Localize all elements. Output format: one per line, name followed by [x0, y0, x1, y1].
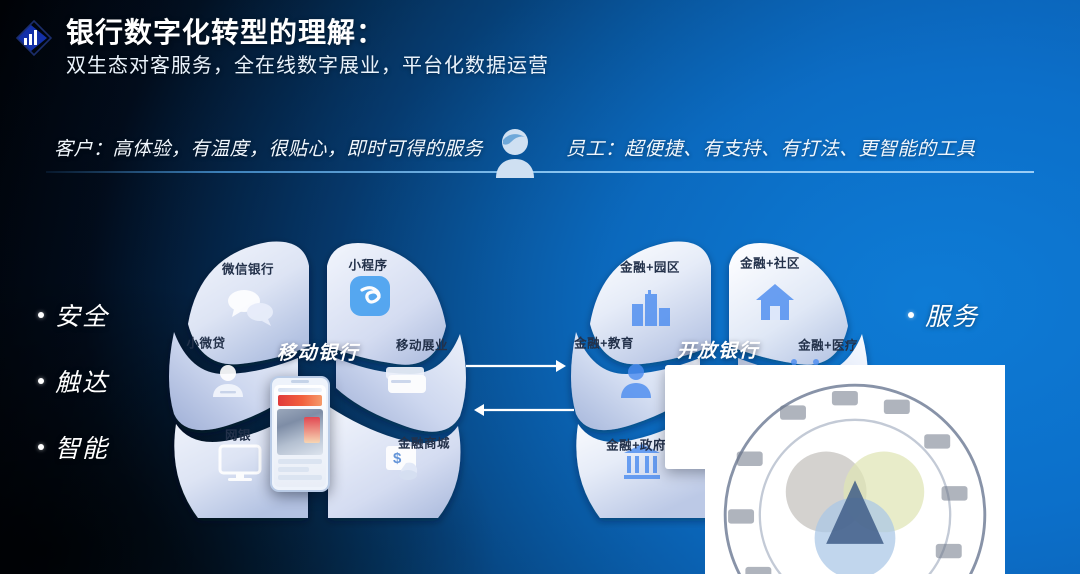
audience-band: 客户：高体验，有温度，很贴心，即时可得的服务 员工：超便捷、有支持、有打法、更智…	[0, 128, 1080, 180]
phone-content-row	[278, 475, 322, 480]
person-icon	[492, 126, 538, 182]
cluster-center-label: 开放银行	[677, 336, 759, 363]
svg-text:$: $	[393, 450, 402, 467]
cluster-connectors	[460, 352, 580, 424]
phone-status-bar	[278, 388, 322, 392]
phone-notch	[291, 380, 309, 383]
phone-content-row	[278, 459, 322, 464]
bullet-item: 服务	[908, 282, 1028, 348]
phone-promo-banner	[278, 395, 322, 406]
bullet-label: 触达	[55, 363, 109, 399]
open-banking-cluster: 金融+园区 金融+社区 金融+医疗 金融+本地生活 金融+政府 金融+教育 开放…	[528, 228, 908, 528]
slide-canvas: 银行数字化转型的理解： 双生态对客服务，全在线数字展业，平台化数据运营 客户：高…	[0, 0, 1080, 574]
page-title: 银行数字化转型的理解：	[66, 16, 549, 49]
phone-hero-image	[277, 409, 323, 455]
bullet-dot-icon	[38, 444, 44, 450]
brand-logo-icon	[14, 18, 54, 58]
bullet-label: 服务	[925, 297, 979, 333]
bullet-label: 智能	[55, 429, 109, 465]
employee-statement: 员工：超便捷、有支持、有打法、更智能的工具	[566, 134, 976, 161]
phone-content-row	[278, 467, 309, 472]
ecosystem-venn-diagram-card	[665, 365, 769, 469]
bullet-dot-icon	[38, 378, 44, 384]
bullet-dot-icon	[908, 312, 914, 318]
mobile-phone-app-mockup	[270, 376, 330, 492]
band-divider	[46, 171, 1034, 173]
bullet-dot-icon	[38, 312, 44, 318]
mobile-banking-cluster: $ 微信银行 小程序 移动展业 金融商城 网银 小微贷 移动银行	[128, 228, 508, 528]
title-block: 银行数字化转型的理解： 双生态对客服务，全在线数字展业，平台化数据运营	[66, 16, 549, 80]
cluster-center-label: 移动银行	[277, 338, 359, 365]
phone-screen	[274, 385, 326, 487]
bullet-label: 安全	[55, 297, 109, 333]
page-subtitle: 双生态对客服务，全在线数字展业，平台化数据运营	[66, 53, 549, 80]
customer-statement: 客户：高体验，有温度，很贴心，即时可得的服务	[54, 134, 483, 161]
